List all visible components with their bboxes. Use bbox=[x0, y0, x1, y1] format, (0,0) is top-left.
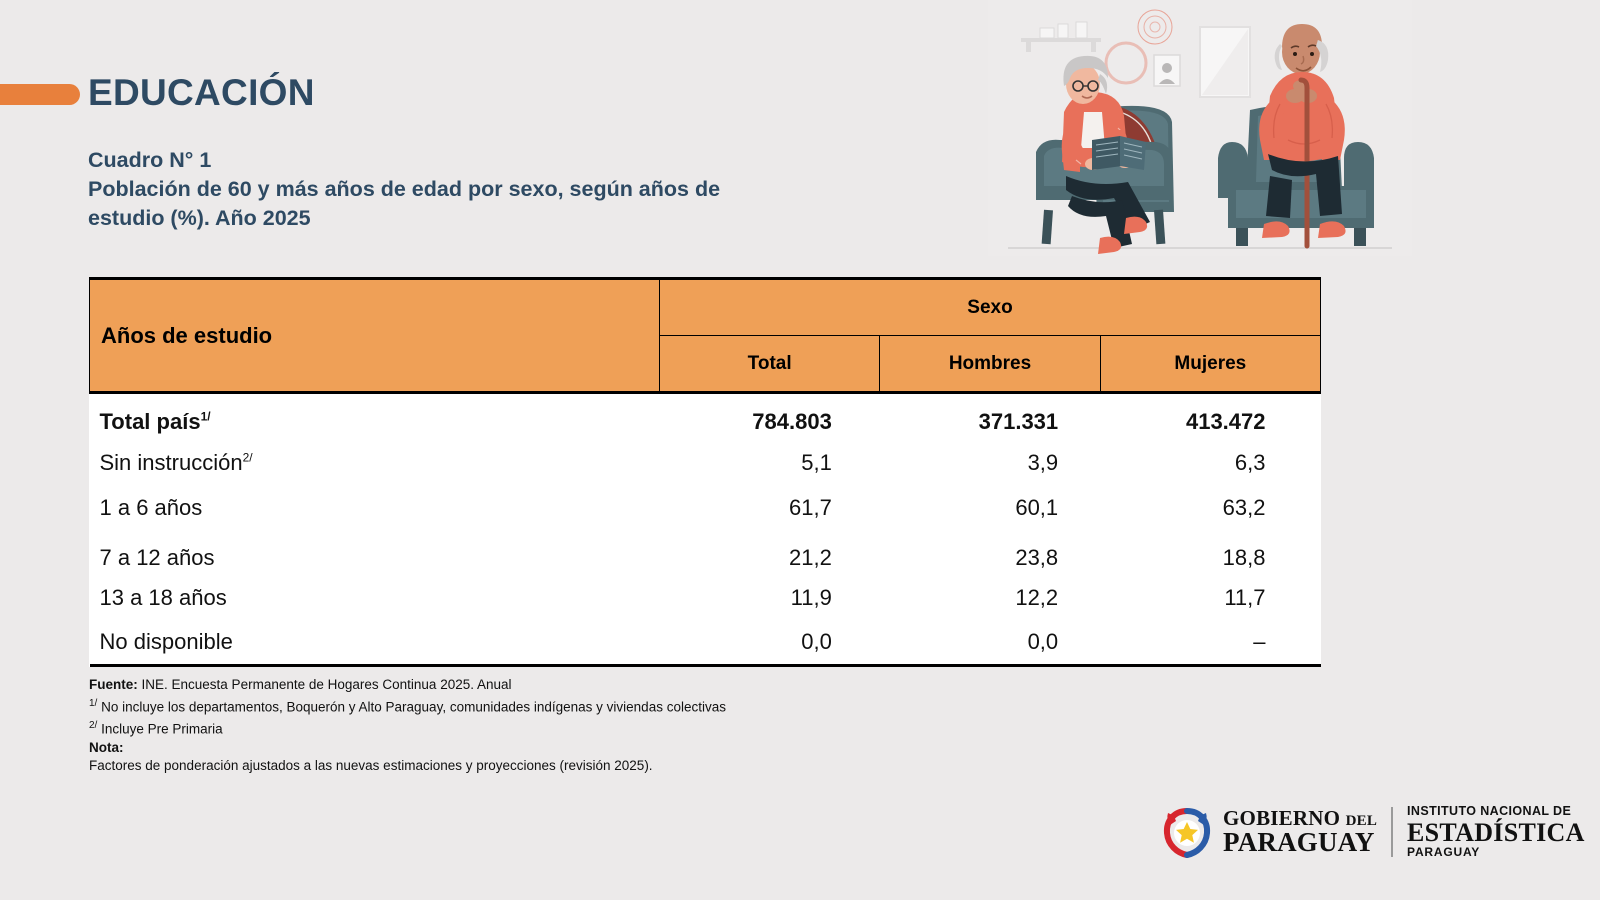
table-body: Total país1/ 784.803 371.331 413.472 Sin… bbox=[90, 393, 1321, 666]
gobierno-del-paraguay-logo: GOBIERNO DEL PARAGUAY bbox=[1160, 805, 1377, 859]
row-label-cell: Total país1/ bbox=[90, 393, 660, 441]
gov-logo-line-2: PARAGUAY bbox=[1223, 829, 1377, 856]
row-label: Total país bbox=[100, 409, 201, 434]
caption-line-2: Población de 60 y más años de edad por s… bbox=[88, 175, 968, 204]
row-label: Sin instrucción bbox=[100, 450, 243, 475]
table-head-row-group: Años de estudio Sexo bbox=[90, 279, 1321, 336]
footnotes-block: Fuente: INE. Encuesta Permanente de Hoga… bbox=[89, 676, 989, 776]
row-label: 13 a 18 años bbox=[100, 585, 227, 610]
ine-logo-text: INSTITUTO NACIONAL DE ESTADÍSTICA PARAGU… bbox=[1407, 805, 1585, 858]
row-label: 7 a 12 años bbox=[100, 545, 215, 570]
column-header-hombres: Hombres bbox=[880, 336, 1100, 393]
row-label-cell: No disponible bbox=[90, 621, 660, 666]
cell-hombres: 371.331 bbox=[880, 393, 1100, 441]
ine-logo-line-2: ESTADÍSTICA bbox=[1407, 819, 1585, 846]
row-label-cell: Sin instrucción2/ bbox=[90, 441, 660, 486]
logo-divider bbox=[1391, 807, 1393, 857]
footnote-source-text: INE. Encuesta Permanente de Hogares Cont… bbox=[142, 677, 512, 692]
footnote-1: 1/ No incluye los departamentos, Boqueró… bbox=[89, 695, 989, 717]
page-title: EDUCACIÓN bbox=[88, 72, 315, 114]
paraguay-emblem-icon bbox=[1160, 805, 1214, 859]
footnote-2-marker: 2/ bbox=[89, 720, 97, 731]
cell-total: 11,9 bbox=[660, 576, 880, 621]
table-head: Años de estudio Sexo Total Hombres Mujer… bbox=[90, 279, 1321, 393]
table-row: 13 a 18 años 11,9 12,2 11,7 bbox=[90, 576, 1321, 621]
cell-mujeres: 413.472 bbox=[1100, 393, 1320, 441]
two-elderly-people-in-armchairs-illustration bbox=[988, 0, 1412, 256]
large-frame bbox=[1200, 27, 1250, 97]
cell-mujeres: 11,7 bbox=[1100, 576, 1320, 621]
footnote-2: 2/ Incluye Pre Primaria bbox=[89, 717, 989, 739]
gobierno-logo-text: GOBIERNO DEL PARAGUAY bbox=[1223, 808, 1377, 856]
footnote-source-label: Fuente: bbox=[89, 677, 138, 692]
row-label-cell: 7 a 12 años bbox=[90, 531, 660, 576]
gov-logo-line-1: GOBIERNO DEL bbox=[1223, 808, 1377, 829]
footnote-nota-label: Nota: bbox=[89, 739, 989, 758]
row-label: 1 a 6 años bbox=[100, 495, 203, 520]
table-caption: Cuadro N° 1 Población de 60 y más años d… bbox=[88, 146, 968, 233]
cell-mujeres: – bbox=[1100, 621, 1320, 666]
row-label: No disponible bbox=[100, 629, 233, 654]
cell-mujeres: 18,8 bbox=[1100, 531, 1320, 576]
cell-total: 5,1 bbox=[660, 441, 880, 486]
table-row: 7 a 12 años 21,2 23,8 18,8 bbox=[90, 531, 1321, 576]
table-row: 1 a 6 años 61,7 60,1 63,2 bbox=[90, 486, 1321, 531]
footnote-marker: 1/ bbox=[201, 410, 211, 424]
footnote-1-marker: 1/ bbox=[89, 698, 97, 709]
caption-line-1: Cuadro N° 1 bbox=[88, 146, 968, 175]
column-header-total: Total bbox=[660, 336, 880, 393]
logo-bar: GOBIERNO DEL PARAGUAY INSTITUTO NACIONAL… bbox=[1160, 805, 1585, 859]
footnote-source: Fuente: INE. Encuesta Permanente de Hoga… bbox=[89, 676, 989, 695]
row-label-cell: 13 a 18 años bbox=[90, 576, 660, 621]
cell-hombres: 0,0 bbox=[880, 621, 1100, 666]
framed-portrait bbox=[1154, 55, 1180, 86]
column-header-anos-de-estudio: Años de estudio bbox=[90, 279, 660, 393]
cell-total: 61,7 bbox=[660, 486, 880, 531]
ine-logo-line-1: INSTITUTO NACIONAL DE bbox=[1407, 805, 1585, 818]
caption-line-3: estudio (%). Año 2025 bbox=[88, 204, 968, 233]
row-label-cell: 1 a 6 años bbox=[90, 486, 660, 531]
table-row: No disponible 0,0 0,0 – bbox=[90, 621, 1321, 666]
cell-total: 21,2 bbox=[660, 531, 880, 576]
cell-total: 0,0 bbox=[660, 621, 880, 666]
cell-total: 784.803 bbox=[660, 393, 880, 441]
column-header-mujeres: Mujeres bbox=[1100, 336, 1320, 393]
cell-hombres: 12,2 bbox=[880, 576, 1100, 621]
cell-hombres: 3,9 bbox=[880, 441, 1100, 486]
column-group-header-sexo: Sexo bbox=[660, 279, 1321, 336]
education-years-by-sex-table: Años de estudio Sexo Total Hombres Mujer… bbox=[89, 277, 1321, 667]
table-row: Total país1/ 784.803 371.331 413.472 bbox=[90, 393, 1321, 441]
footnote-1-text: No incluye los departamentos, Boquerón y… bbox=[101, 699, 726, 714]
footnote-2-text: Incluye Pre Primaria bbox=[101, 721, 223, 736]
cell-hombres: 23,8 bbox=[880, 531, 1100, 576]
footnote-nota-text: Factores de ponderación ajustados a las … bbox=[89, 757, 989, 776]
cell-mujeres: 63,2 bbox=[1100, 486, 1320, 531]
accent-bar bbox=[0, 84, 80, 105]
footnote-marker: 2/ bbox=[243, 451, 253, 465]
table-row: Sin instrucción2/ 5,1 3,9 6,3 bbox=[90, 441, 1321, 486]
ine-logo-line-3: PARAGUAY bbox=[1407, 846, 1585, 859]
cell-hombres: 60,1 bbox=[880, 486, 1100, 531]
cell-mujeres: 6,3 bbox=[1100, 441, 1320, 486]
slide-page: EDUCACIÓN Cuadro N° 1 Población de 60 y … bbox=[0, 0, 1600, 900]
